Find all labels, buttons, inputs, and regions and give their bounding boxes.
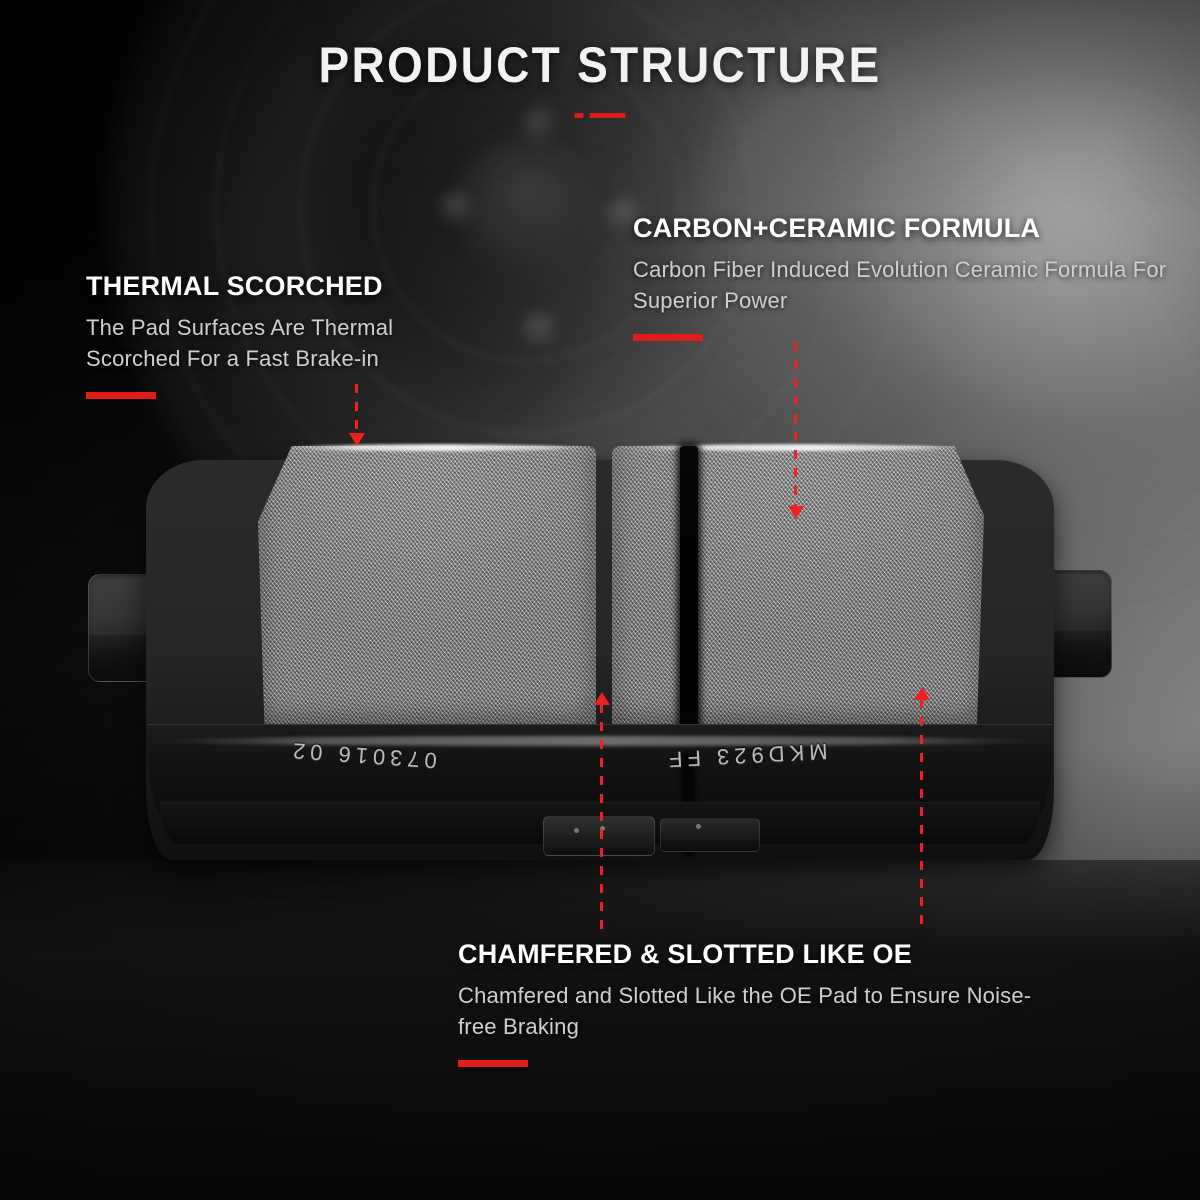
pointer-arrowhead-up-icon: [594, 692, 610, 705]
callout-carbon-ceramic-formula: CARBON+CERAMIC FORMULA Carbon Fiber Indu…: [633, 214, 1178, 341]
pad-clip-rivet: [574, 828, 579, 833]
friction-surface-left: [258, 446, 596, 736]
divider-dash-short: [575, 113, 584, 118]
pointer-arrowhead-down-icon: [349, 433, 365, 446]
pad-clip-tab-right: [660, 818, 760, 852]
divider-dash-long: [590, 113, 626, 118]
chamfer-highlight-left: [284, 444, 584, 451]
pad-center-slot: [680, 446, 698, 764]
callout-accent-bar: [633, 334, 703, 341]
pointer-arrowhead-up-icon: [914, 687, 930, 700]
callout-accent-bar: [86, 392, 156, 399]
callout-chamfered-slotted: CHAMFERED & SLOTTED LIKE OE Chamfered an…: [458, 940, 1058, 1067]
pointer-line-slot: [600, 704, 603, 932]
callout-thermal-scorched: THERMAL SCORCHED The Pad Surfaces Are Th…: [86, 272, 486, 399]
callout-heading-thermal-scorched: THERMAL SCORCHED: [86, 272, 486, 302]
pointer-dashes: [600, 704, 603, 932]
pointer-line-carbon-ceramic: [794, 342, 797, 517]
chamfer-highlight-right: [628, 444, 958, 451]
pad-clip-rivet: [696, 824, 701, 829]
pointer-arrowhead-down-icon: [788, 506, 804, 519]
pad-clip-tab-left: [543, 816, 655, 856]
callout-heading-chamfered-slotted: CHAMFERED & SLOTTED LIKE OE: [458, 940, 1058, 970]
pointer-dashes: [920, 699, 923, 931]
product-structure-infographic: PRODUCT STRUCTURE 073016 02 MKD923 FF: [0, 0, 1200, 1200]
callout-body-chamfered-slotted: Chamfered and Slotted Like the OE Pad to…: [458, 980, 1058, 1042]
page-title: PRODUCT STRUCTURE: [48, 36, 1152, 94]
callout-accent-bar: [458, 1060, 528, 1067]
callout-heading-carbon-ceramic: CARBON+CERAMIC FORMULA: [633, 214, 1178, 244]
callout-body-carbon-ceramic: Carbon Fiber Induced Evolution Ceramic F…: [633, 254, 1178, 316]
callout-body-thermal-scorched: The Pad Surfaces Are Thermal Scorched Fo…: [86, 312, 486, 374]
pointer-dashes: [794, 342, 797, 517]
pointer-line-chamfer: [920, 699, 923, 931]
title-divider: [575, 113, 626, 118]
